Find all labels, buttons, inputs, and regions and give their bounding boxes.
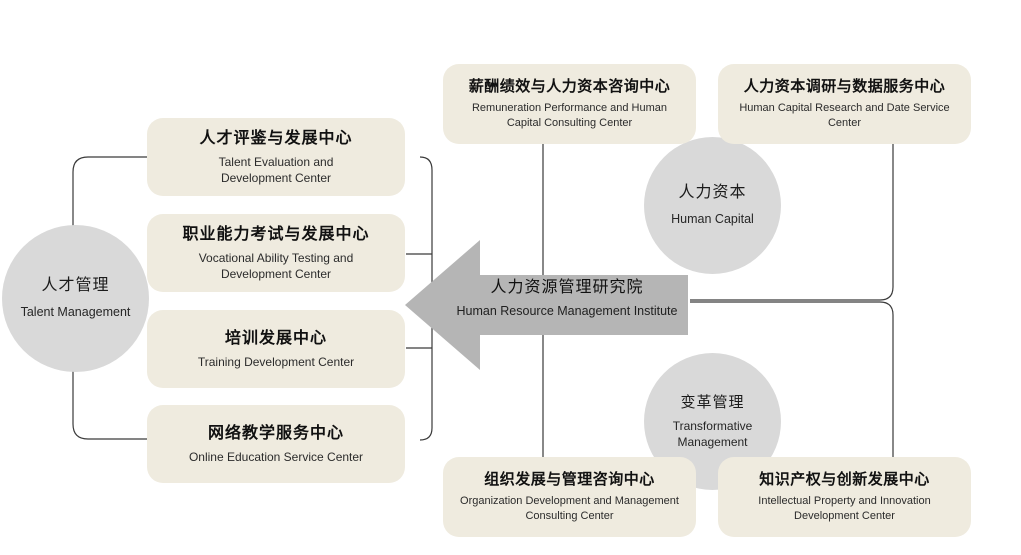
center-human-capital-research-cn: 人力资本调研与数据服务中心 <box>744 77 946 97</box>
center-online-education[interactable]: 网络教学服务中心 Online Education Service Center <box>147 405 405 483</box>
center-vocational-ability-en-line1: Vocational Ability Testing and <box>199 250 354 266</box>
center-intellectual-property-en-line2: Development Center <box>794 509 895 524</box>
center-talent-evaluation-cn: 人才评鉴与发展中心 <box>199 128 352 150</box>
center-remuneration-performance-en-line1: Remuneration Performance and Human <box>472 101 667 116</box>
center-training-development-cn: 培训发展中心 <box>225 328 327 350</box>
center-intellectual-property-cn: 知识产权与创新发展中心 <box>759 470 930 490</box>
pillar-human-capital-en: Human Capital <box>671 211 754 228</box>
center-human-capital-research-en-line1: Human Capital Research and Date Service <box>739 101 949 116</box>
center-organization-development-cn: 组织发展与管理咨询中心 <box>484 470 655 490</box>
pillar-human-capital-cn: 人力资本 <box>678 183 746 204</box>
center-intellectual-property-en-line1: Intellectual Property and Innovation <box>758 494 930 509</box>
center-talent-evaluation-en-line1: Talent Evaluation and <box>219 154 334 170</box>
center-remuneration-performance-cn: 薪酬绩效与人力资本咨询中心 <box>469 77 671 97</box>
pillar-talent-management[interactable]: 人才管理 Talent Management <box>2 225 149 372</box>
center-organization-development-en-line2: Consulting Center <box>525 509 613 524</box>
center-talent-evaluation[interactable]: 人才评鉴与发展中心 Talent Evaluation and Developm… <box>147 118 405 196</box>
center-training-development-en-line1: Training Development Center <box>198 354 354 370</box>
center-talent-evaluation-en-line2: Development Center <box>221 170 331 186</box>
center-intellectual-property[interactable]: 知识产权与创新发展中心 Intellectual Property and In… <box>718 457 971 537</box>
center-vocational-ability-cn: 职业能力考试与发展中心 <box>182 224 369 246</box>
pillar-transformative-management-en: Transformative Management <box>665 418 761 450</box>
center-remuneration-performance-en-line2: Capital Consulting Center <box>507 116 632 131</box>
pillar-talent-management-cn: 人才管理 <box>41 276 109 297</box>
center-online-education-cn: 网络教学服务中心 <box>208 423 344 445</box>
center-human-capital-research[interactable]: 人力资本调研与数据服务中心 Human Capital Research and… <box>718 64 971 144</box>
center-training-development[interactable]: 培训发展中心 Training Development Center <box>147 310 405 388</box>
center-organization-development[interactable]: 组织发展与管理咨询中心 Organization Development and… <box>443 457 696 537</box>
arrow-shape <box>405 240 688 370</box>
center-organization-development-en-line1: Organization Development and Management <box>460 494 679 509</box>
pillar-talent-management-en: Talent Management <box>21 304 131 321</box>
center-remuneration-performance[interactable]: 薪酬绩效与人力资本咨询中心 Remuneration Performance a… <box>443 64 696 144</box>
institute-arrow[interactable] <box>402 236 690 374</box>
center-human-capital-research-en-line2: Center <box>828 116 861 131</box>
org-diagram-canvas: 人才管理 Talent Management 人才评鉴与发展中心 Talent … <box>0 0 1021 555</box>
center-vocational-ability[interactable]: 职业能力考试与发展中心 Vocational Ability Testing a… <box>147 214 405 292</box>
pillar-transformative-management-cn: 变革管理 <box>680 393 744 413</box>
center-vocational-ability-en-line2: Development Center <box>221 266 331 282</box>
center-online-education-en-line1: Online Education Service Center <box>189 449 363 465</box>
